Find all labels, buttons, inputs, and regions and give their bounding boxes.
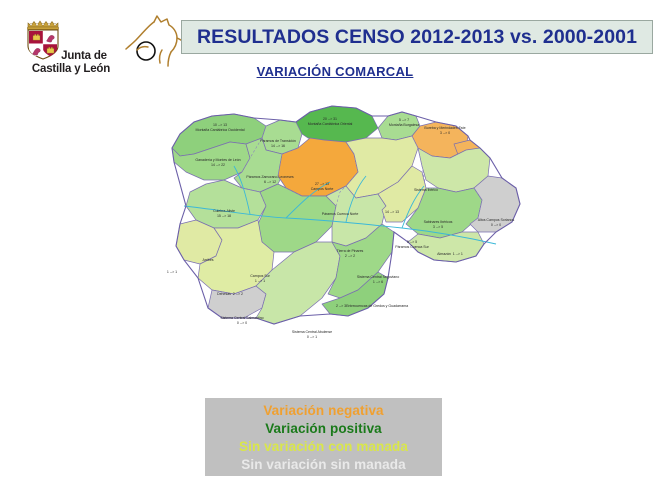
- map-label-dehesas: Dehesas 2 --> 2: [217, 292, 243, 297]
- junta-logo-line1: Junta de: [12, 50, 130, 63]
- map-label-sistema-central-abulense: Sistema Central Abulense 0 --> 1: [292, 330, 332, 339]
- page-title: RESULTADOS CENSO 2012-2013 vs. 2000-2001: [197, 26, 637, 49]
- map-label-paramos-zamorano-leoneses: Páramos Zamorano-Leoneses 6 --> 12: [246, 175, 293, 184]
- map-label-sistema-central-salmantino: Sistema Central Salmantino 0 --> 0: [220, 316, 263, 325]
- map-label-altos-campos-sorianos: Altos Campos Sorianos 0 --> 0: [478, 218, 515, 227]
- page-subtitle: VARIACIÓN COMARCAL: [0, 64, 670, 79]
- map-label-entrecuencas-gredos-guadarrama: 2 --> 3Entrecuencas de Gredos y Guadarra…: [336, 304, 408, 309]
- map-label-ganaderia-montes-de-leon: Ganadería y Montes de León 14 --> 22: [195, 158, 240, 167]
- map-label-almazan: Almazán 1 --> 1: [437, 252, 463, 257]
- map-label-culebra-aliste: Culebra-Aliste 15 --> 18: [213, 209, 235, 218]
- map-label-paramos-cuenca-norte: Páramos Cuenca Norte: [322, 212, 359, 217]
- map-label-sabinares-ibericos: Sabinares Ibéricos 3 --> 5: [424, 220, 453, 229]
- comarcas-map: 10 --> 13 Montaña Cantábrica Occidental …: [150, 92, 550, 362]
- map-label-campos-norte: 27 --> 13 Campos Norte: [311, 182, 334, 191]
- map-label-paramos-de-transicion: Páramos de Transición 14 --> 16: [260, 139, 296, 148]
- map-label-paramos-cuenca-norte-value: 14 --> 13: [385, 210, 399, 215]
- map-label-tierra-de-pinares: Tierra de Pinares 2 --> 2: [337, 249, 364, 258]
- map-label-bureba-merindades-este: Bureba y Merindades Este 3 --> 0: [424, 126, 465, 135]
- legend-item-sin-variacion-sin-manada: Sin variación sin manada: [241, 456, 405, 473]
- map-label-sistema-central-segoviano: Sistema Central Segoviano 1 --> 6: [357, 275, 399, 284]
- legend-item-sin-variacion-con-manada: Sin variación con manada: [239, 438, 408, 455]
- legend-item-variacion-negativa: Variación negativa: [263, 402, 383, 419]
- map-legend: Variación negativa Variación positiva Si…: [205, 398, 442, 476]
- map-label-campos-sur: Campos Sur 1 --> 1: [250, 274, 269, 283]
- map-label-paramos-cuenca-sur: 5 --> 5 Páramos Cuenca Sur: [395, 240, 428, 249]
- map-label-montana-cantabrica-oriental: 20 --> 31 Montaña Cantábrica Oriental: [308, 117, 353, 126]
- legend-item-variacion-positiva: Variación positiva: [265, 420, 382, 437]
- map-label-montana-cantabrica-occidental: 10 --> 13 Montaña Cantábrica Occidental: [196, 123, 245, 132]
- map-label-arribes: Arribes: [202, 258, 213, 263]
- title-box: RESULTADOS CENSO 2012-2013 vs. 2000-2001: [181, 20, 653, 54]
- map-label-montana-burgalesa: 5 --> 7 Montaña Burgalesa: [389, 118, 419, 127]
- map-label-sistema-iberico: Sistema Ibérico: [414, 188, 438, 193]
- map-label-arribes-value: 1 --> 1: [167, 270, 177, 275]
